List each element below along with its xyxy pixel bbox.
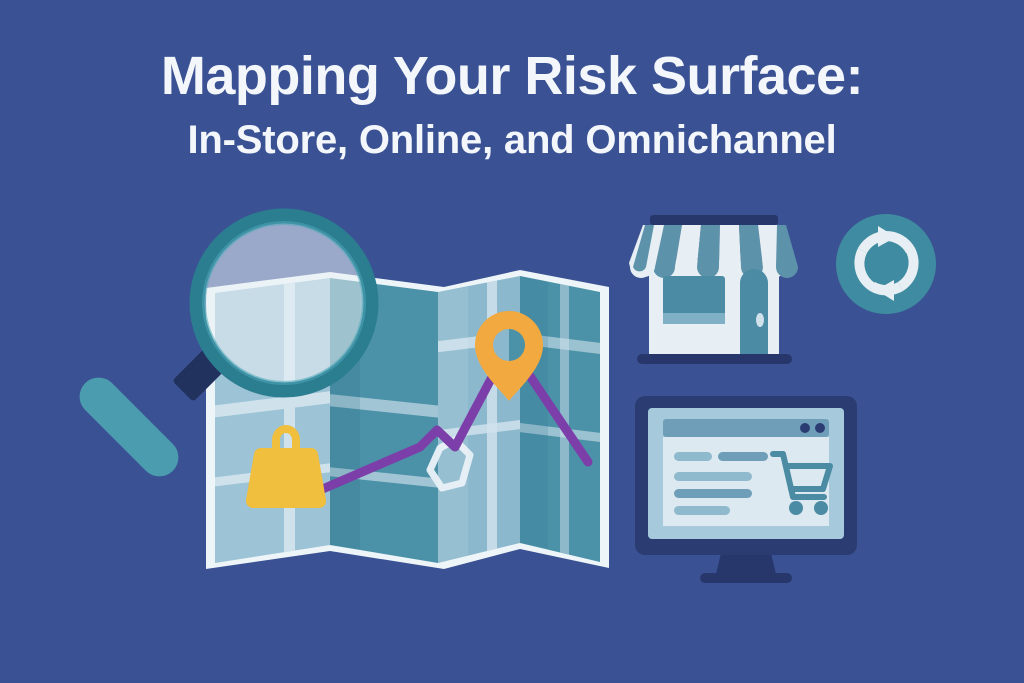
cart-wheel-2 <box>814 501 828 515</box>
page-subtitle: In-Store, Online, and Omnichannel <box>0 119 1024 161</box>
storefront-window-sill <box>663 313 725 324</box>
browser-dot-1 <box>800 423 810 433</box>
storefront-door <box>740 269 768 356</box>
sync-badge <box>836 214 936 314</box>
storefront-base <box>637 354 792 364</box>
storefront-roof-bar <box>650 215 778 225</box>
desktop-monitor <box>635 396 857 583</box>
hero-banner: Mapping Your Risk Surface: In-Store, Onl… <box>0 0 1024 683</box>
shopping-bag-body <box>246 448 326 508</box>
page-title: Mapping Your Risk Surface: <box>0 48 1024 105</box>
sync-badge-circle <box>836 214 936 314</box>
monitor-stand-base <box>700 573 792 583</box>
storefront-door-handle <box>756 313 764 327</box>
heading-block: Mapping Your Risk Surface: In-Store, Onl… <box>0 48 1024 161</box>
cart-wheel-1 <box>789 501 803 515</box>
browser-dot-2 <box>815 423 825 433</box>
storefront <box>629 215 798 364</box>
browser-window <box>663 419 830 526</box>
storefront-awning <box>629 225 798 278</box>
